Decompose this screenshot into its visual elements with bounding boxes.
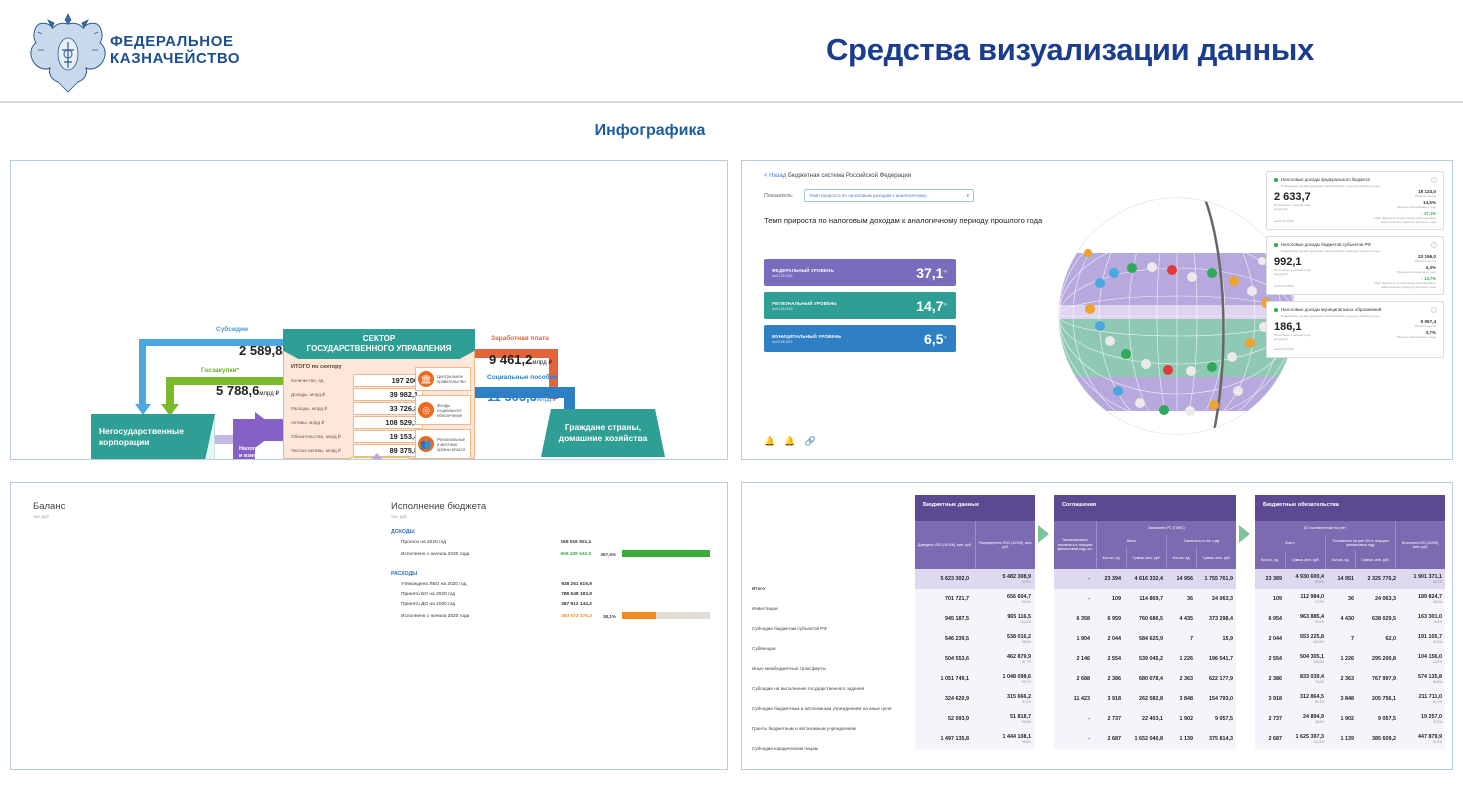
cell: 622 177,9 [1196,676,1236,682]
cell: 4 430 [1327,616,1357,622]
cell: 2 325 776,2 [1357,576,1399,582]
col-bo-year: Поставлено на учет БО в текущем финансов… [1325,535,1395,551]
cell: 196 541,7 [1196,656,1236,662]
cell: 9 057,5 [1196,716,1236,722]
balance-subtitle: тыс.руб [33,514,49,519]
cell: 965 116,5102,1% [973,614,1035,624]
level-regional-name: РЕГИОНАЛЬНЫЙ УРОВЕНЬ [772,301,837,306]
shield-icon: ◎ [418,402,434,418]
cell: - [1054,576,1094,582]
cell: 3 848 [1166,696,1196,702]
level-regional-date: на 04.03.2019 [772,307,837,311]
gov-row-count: Количество, ед.197 200 [291,374,423,387]
expense-section-header: РАСХОДЫ [391,571,417,577]
table-row[interactable]: - 2 737 22 403,1 1 902 9 057,5 [1054,709,1236,729]
cell: 2 554 [1094,656,1124,662]
table-row[interactable]: 2 044 553 225,8102,8% 7 62,0 191 105,733… [1255,629,1445,649]
level-federal-date: на 01.03.2019 [772,274,834,278]
cell: 1 139 [1327,736,1357,742]
link-icon[interactable]: 🔗 [804,436,815,447]
cell: 14 956 [1166,576,1196,582]
cell: 211 711,067,1% [1399,694,1445,704]
row-pct: 367,5% [594,547,619,561]
gov-sector-header: СЕКТОР ГОСУДАРСТВЕННОГО УПРАВЛЕНИЯ [283,329,475,359]
level-municipal-value: 6,5% [924,331,947,347]
table-row[interactable]: 945 187,5 965 116,5102,1% [915,609,1035,629]
table-row[interactable]: - 2 687 1 652 040,8 1 139 375 814,3 [1054,729,1236,749]
cell: 1 652 040,8 [1124,736,1166,742]
cell: 154 793,0 [1196,696,1236,702]
flow-subsidies-vertical [139,339,146,407]
level-federal-name: ФЕДЕРАЛЬНЫЙ УРОВЕНЬ [772,268,834,273]
table-row[interactable]: 2 688 2 386 680 078,4 2 363 622 177,9 [1054,669,1236,689]
group-budget-obligations-title: Бюджетные обязательства [1255,495,1445,521]
row-label: Инвестиции [752,599,892,619]
table-total-row[interactable]: - 23 394 4 616 332,4 14 956 1 755 761,9 [1054,569,1236,589]
org-central-government-label: Центральноеправительство [437,374,466,384]
org-name: ФЕДЕРАЛЬНОЕ КАЗНАЧЕЙСТВО [110,33,240,67]
row-label: Принято БО на 2020 год [393,589,531,599]
balance-title: Баланс [33,501,65,512]
row-label: Иные межбюджетные трансферты [752,659,892,679]
table-row[interactable]: 2 554 504 305,1100,0% 1 226 295 200,8 10… [1255,649,1445,669]
level-federal-value: 37,1% [916,265,947,281]
card-title: Налоговые доходы бюджетов субъектов РФ [1274,242,1436,247]
cell: 1 226 [1166,656,1196,662]
indicator-select-value: Темп прироста по налоговым доходам к ана… [809,193,929,198]
indicator-card[interactable]: i Налоговые доходы федерального бюджета … [1266,171,1444,230]
infographic-flow-panel[interactable]: Субсидии 2 589,8млрд ₽ Госзакупки* 5 788… [10,160,728,460]
level-municipal-name: МУНИЦИПАЛЬНЫЙ УРОВЕНЬ [772,334,841,339]
card-pct-caption: Процент исполнения к году [1364,270,1436,274]
row-value: 387 912 144,2 [531,599,595,609]
level-regional[interactable]: РЕГИОНАЛЬНЫЙ УРОВЕНЬ на 04.03.2019 14,7% [764,292,956,319]
cell: 6 954 [1255,616,1285,622]
table-row[interactable]: 324 620,9 315 666,297,2% [915,689,1035,709]
row-label: Субсидии бюджетам субъектов РФ [752,619,892,639]
cell: 945 187,5 [915,616,973,622]
row-label: Субсидии на выполнение государственного … [752,679,892,699]
row-label: Субсидии юридическим лицам [752,739,892,759]
globe-visualization[interactable] [1052,191,1302,441]
org-regional-authorities-label: Региональныеи местныеорганы власти [437,437,465,452]
cell: 385 609,2 [1357,736,1399,742]
card-subtitle: Повышение уровня доходов к аналогичному … [1281,184,1436,188]
cell: 23 389 [1255,576,1285,582]
cell: 205 756,1 [1357,696,1399,702]
cell: 1 139 [1166,736,1196,742]
cell: 51 818,799,5% [973,714,1035,724]
table-row[interactable]: Принято БО на 2020 год 788 648 183,9 [393,589,713,599]
cell: - [1054,596,1094,602]
table-row[interactable]: 6 954 963 885,499,9% 4 430 638 029,5 163… [1255,609,1445,629]
cell: 963 885,499,9% [1285,614,1327,624]
cell: 262 582,8 [1124,696,1166,702]
globe-dashboard-panel[interactable]: < Назад Бюджетная система Российской Фед… [741,160,1453,460]
cell: 1 902 [1327,716,1357,722]
government-icon: 🏛 [418,371,434,387]
row-pct: 38,1% [595,610,619,624]
cell: 2 044 [1094,636,1124,642]
col-count: Кол-во, ед. [1255,551,1285,569]
indicator-question: Темп прироста по налоговым доходам к ана… [764,215,1064,226]
card-date: на 05.03.2019 [1274,347,1436,351]
row-label: Итого [752,579,892,599]
cell: 375 814,3 [1196,736,1236,742]
cell: 2 044 [1255,636,1285,642]
gov-total-label: ИТОГО по сектору [291,364,342,370]
chevron-down-icon: ▾ [967,193,969,199]
col-count: Кол-во, ед. [1166,547,1196,569]
cell: 2 363 [1166,676,1196,682]
cell: 312 864,599,7% [1285,694,1327,704]
cell: 6 959 [1094,616,1124,622]
bell-icon[interactable]: 🔔 [764,436,775,447]
cell: 5 623 302,0 [915,576,973,582]
gov-row-liabilities: Обязательства, млрд ₽19 153,4 [291,430,423,443]
cell: 538 016,298,5% [973,634,1035,644]
nongov-title-line1: Негосударственные [99,426,184,437]
cell: 760 686,5 [1124,616,1166,622]
cell: 4 435 [1166,616,1196,622]
cell: 539 045,2 [1124,656,1166,662]
flow-invest-arrowhead [368,453,386,460]
globe-toolbar[interactable]: 🔔 🔔 🔗 [764,436,816,447]
row-bar [622,612,710,619]
table-row[interactable]: 6 358 6 959 760 686,5 4 435 373 298,4 [1054,609,1236,629]
cell: 584 625,9 [1124,636,1166,642]
gov-row-income: Доходы, млрд ₽39 982,1 [291,388,423,401]
cell: 24 063,3 [1196,596,1236,602]
cell: 2 386 [1094,676,1124,682]
label-subsidies: Субсидии [216,326,248,333]
table-total-row[interactable]: 5 623 302,0 5 482 308,997,5% [915,569,1035,589]
section-title: Инфографика [480,122,820,140]
cell: 2 554 [1255,656,1285,662]
row-label: Гранты бюджетным и автономным учреждения… [752,719,892,739]
value-procurement: 5 788,6млрд ₽ [216,383,279,398]
level-municipal[interactable]: МУНИЦИПАЛЬНЫЙ УРОВЕНЬ на 05.03.2019 6,5% [764,325,956,352]
row-value: 169 016 921,1 [531,537,595,547]
cell: - [1054,716,1094,722]
people-icon: 👥 [418,436,434,452]
citizens-box[interactable]: Граждане страны, домашние хозяйства [541,409,665,457]
cell: 2 688 [1054,676,1094,682]
cell: 504 553,6 [915,656,973,662]
citizens-line1: Граждане страны, [565,422,641,433]
back-link[interactable]: < Назад [764,173,786,179]
col-sum: Сумма, млн. руб. [1285,551,1325,569]
table-row[interactable]: 701 721,7 656 604,793,6% [915,589,1035,609]
card-pct-caption: Процент исполнения к году [1364,205,1436,209]
flow-arrow-icon [1239,525,1250,543]
cell: 1 755 761,9 [1196,576,1236,582]
cell: 504 305,1100,0% [1285,654,1327,664]
cell: 1 444 108,196,5% [973,734,1035,744]
cell: 23 394 [1094,576,1124,582]
card-subtitle: Повышение уровня доходов к аналогичному … [1281,249,1436,253]
col-planned-count: Запланировано заключить в текущем финанс… [1054,521,1096,569]
cell: 373 298,4 [1196,616,1236,622]
row-value: 606 439 542,0 [531,547,595,561]
cell: 5 482 308,997,5% [973,574,1035,584]
header-divider [0,101,1463,103]
indicator-card[interactable]: i Налоговые доходы бюджетов субъектов РФ… [1266,236,1444,295]
cell: 191 105,733,5% [1399,634,1445,644]
cell: 2 737 [1255,716,1285,722]
flow-procurement-vertical [166,377,174,407]
org-name-line2: КАЗНАЧЕЙСТВО [110,50,240,67]
flow-taxes-stub [215,435,233,444]
page-title: Средства визуализации данных [700,32,1440,68]
org-name-line1: ФЕДЕРАЛЬНОЕ [110,33,240,50]
cell: 112 984,017,2% [1285,594,1327,604]
cell: 1 904 [1054,636,1094,642]
table-row[interactable]: 2 386 833 039,479,0% 2 363 767 997,9 574… [1255,669,1445,689]
row-value: 928 251 615,9 [531,579,595,589]
status-dot-icon [1274,308,1278,312]
group-agreements: Соглашения Заключено РС (ГИИС) Всего Зак… [1054,495,1236,749]
org-central-government[interactable]: 🏛 Центральноеправительство [415,367,471,391]
card-title: Налоговые доходы муниципальных образован… [1274,307,1436,312]
cell: 163 301,016,9% [1399,614,1445,624]
alert-icon[interactable]: 🔔 [784,436,795,447]
indicator-card[interactable]: i Налоговые доходы муниципальных образов… [1266,301,1444,358]
nongov-title-line2: корпорации [99,437,184,448]
table-row[interactable]: 11 423 3 918 262 582,8 3 848 154 793,0 [1054,689,1236,709]
cell: 109 [1094,596,1124,602]
cell: 638 029,5 [1357,616,1399,622]
table-row[interactable]: Исполнено с начала 2020 года 606 439 542… [393,547,713,561]
group-agreements-title: Соглашения [1054,495,1236,521]
card-subtitle: Повышение уровня доходов к аналогичному … [1281,314,1436,318]
cell: 767 997,9 [1357,676,1399,682]
cell: 1 901 371,134,7% [1399,574,1445,584]
sector-flow-diagram: Субсидии 2 589,8млрд ₽ Госзакупки* 5 788… [11,161,727,459]
cell: 22 403,1 [1124,716,1166,722]
cell: 114 869,7 [1124,596,1166,602]
card-forecast-caption: Прогноз на год [1397,324,1436,328]
cell: 701 721,7 [915,596,973,602]
gov-row-assets: Активы, млрд ₽108 529,1 [291,416,423,429]
cell: 3 918 [1255,696,1285,702]
cell: 1 051 749,1 [915,676,973,682]
label-procurement: Госзакупки* [201,367,239,374]
group-budget-data: Бюджетные данные Доведено ЛБО (АСФК), мл… [915,495,1035,749]
cell: 24 894,948,9% [1285,714,1327,724]
level-municipal-date: на 05.03.2019 [772,340,841,344]
cell: 1 902 [1166,716,1196,722]
cell: 6 358 [1054,616,1094,622]
info-icon[interactable]: i [1431,307,1437,313]
cell: 4 930 600,489,9% [1285,574,1327,584]
cell: 14 951 [1327,576,1357,582]
cell: 62,0 [1357,636,1399,642]
label-taxes: Налогии взносы [239,446,264,460]
cell: 109 [1255,596,1285,602]
gov-row-expense: Расходы, млрд ₽33 726,8 [291,402,423,415]
indicator-select[interactable]: Темп прироста по налоговым доходам к ана… [804,189,974,202]
table-total-row[interactable]: 23 389 4 930 600,489,9% 14 951 2 325 776… [1255,569,1445,589]
col-agreements-year: Заключено в тек. году [1166,535,1236,547]
table-row[interactable]: 1 904 2 044 584 625,9 7 15,9 [1054,629,1236,649]
level-regional-value: 14,7% [916,298,947,314]
col-lbo-distributed: Распределено ЛБО (АСФК), млн. руб. [975,521,1035,569]
group-budget-data-title: Бюджетные данные [915,495,1035,521]
cell: 3 918 [1094,696,1124,702]
card-title: Налоговые доходы федерального бюджета [1274,177,1436,182]
cell: 15,9 [1196,636,1236,642]
cell: 9 057,5 [1357,716,1399,722]
cell: 833 039,479,0% [1285,674,1327,684]
cell: 546 239,5 [915,636,973,642]
table-row[interactable]: 2 146 2 554 539 045,2 1 226 196 541,7 [1054,649,1236,669]
card-forecast-caption: Прогноз на год [1364,259,1436,263]
col-bo-executed: Исполнено БО (АСФК), млн. руб. [1395,521,1445,569]
org-regional-authorities[interactable]: 👥 Региональныеи местныеорганы власти [415,429,471,459]
cell: - [1054,736,1094,742]
table-row[interactable]: 546 239,5 538 016,298,5% [915,629,1035,649]
balance-budget-panel[interactable]: Баланс тыс.руб Нефинансовые активы 1 132… [10,482,728,770]
cell: 52 093,9 [915,716,973,722]
cell: 2 146 [1054,656,1094,662]
row-value: 788 648 183,9 [531,589,595,599]
cell: 2 363 [1327,676,1357,682]
row-bar [622,550,710,557]
cell: 189 824,728,9% [1399,594,1445,604]
col-bo-registered: БО поставленные на учет [1255,521,1395,535]
cell: 36 [1166,596,1196,602]
federal-treasury-emblem-logo [22,6,114,98]
income-table[interactable]: Прогноз на 2020 год 169 016 921,1 Исполн… [393,537,713,561]
gov-head-line2: ГОСУДАРСТВЕННОГО УПРАВЛЕНИЯ [307,344,452,354]
cell: 19 257,037,2% [1399,714,1445,724]
cell: 656 604,793,6% [973,594,1035,604]
table-row[interactable]: 1 497 135,8 1 444 108,196,5% [915,729,1035,749]
cell: 104 156,022,5% [1399,654,1445,664]
value-benefits: 11 503,3млрд ₽ [487,389,557,404]
row-label: Субсидии бюджетным и автономным учрежден… [752,699,892,719]
status-dot-icon [1274,243,1278,247]
row-label: Утверждено ЛБО на 2020 год [393,579,531,589]
cell: 7 [1166,636,1196,642]
status-dot-icon [1274,178,1278,182]
citizens-line2: домашние хозяйства [559,433,648,444]
col-agreements-top: Заключено РС (ГИИС) [1096,521,1236,535]
cell: 1 048 098,699,7% [973,674,1035,684]
col-lbo-allocated: Доведено ЛБО (АСФК), млн. руб. [915,521,975,569]
table-row[interactable]: 2 737 24 894,948,9% 1 902 9 057,5 19 257… [1255,709,1445,729]
col-agreements-all: Всего [1096,535,1166,547]
budget-obligations-table-panel[interactable]: Итого Инвестиции Субсидии бюджетам субъе… [741,482,1453,770]
card-forecast-caption: Прогноз на год [1364,194,1436,198]
table-row[interactable]: - 109 114 869,7 36 24 063,3 [1054,589,1236,609]
breadcrumb[interactable]: < Назад Бюджетная система Российской Фед… [764,173,911,179]
table-row[interactable]: Утверждено ЛБО на 2020 год 928 251 615,9 [393,579,713,589]
row-label: Принято ДО на 2020 год [393,599,531,609]
cell: 36 [1327,596,1357,602]
table-row[interactable]: Прогноз на 2020 год 169 016 921,1 [393,537,713,547]
table-row[interactable]: 2 687 1 625 397,3112,5% 1 139 385 609,2 … [1255,729,1445,749]
card-pct-caption: Процент исполнения к году [1397,335,1436,339]
indicator-select-label: Показатель: [764,193,793,199]
row-label: Прогноз на 2020 год [393,537,531,547]
table-row[interactable]: 109 112 984,017,2% 36 24 063,3 189 824,7… [1255,589,1445,609]
col-bo-all: Всего [1255,535,1325,551]
level-federal[interactable]: ФЕДЕРАЛЬНЫЙ УРОВЕНЬ на 01.03.2019 37,1% [764,259,956,286]
org-social-funds[interactable]: ◎ Фондысоциальногообеспечения [415,395,471,425]
col-sum: Сумма, млн. руб. [1196,547,1236,569]
income-section-header: ДОХОДЫ [391,529,415,535]
gov-row-net-assets: Чистые активы, млрд ₽89 375,8 [291,444,423,457]
table-row[interactable]: Исполнено с начала 2020 года 353 573 375… [393,610,713,624]
info-icon[interactable]: i [1431,242,1437,248]
cell: 7 [1327,636,1357,642]
cell: 2 687 [1094,736,1124,742]
table-row[interactable]: 52 093,9 51 818,799,5% [915,709,1035,729]
card-growth-caption: Темп прироста по кассовому исполнению к … [1364,216,1436,224]
flow-arrow-icon [1038,525,1049,543]
info-icon[interactable]: i [1431,177,1437,183]
cell: 24 063,3 [1357,596,1399,602]
table-row[interactable]: Принято ДО на 2020 год 387 912 144,2 [393,599,713,609]
table-row[interactable]: 1 051 749,1 1 048 098,699,7% [915,669,1035,689]
table-row[interactable]: 3 918 312 864,599,7% 3 848 205 756,1 211… [1255,689,1445,709]
cell: 2 687 [1255,736,1285,742]
cell: 462 879,991,7% [973,654,1035,664]
cell: 447 879,931,0% [1399,734,1445,744]
table-row-labels: Итого Инвестиции Субсидии бюджетам субъе… [752,579,892,759]
breadcrumb-current: Бюджетная система Российской Федерации [788,173,911,179]
gov-head-line1: СЕКТОР [363,334,395,344]
row-value: 353 573 375,3 [531,610,595,624]
col-sum: Сумма, млн. руб. [1126,547,1166,569]
cell: 574 135,854,8% [1399,674,1445,684]
cell: 2 386 [1255,676,1285,682]
col-count: Кол-во, ед. [1096,547,1126,569]
card-growth-caption: Темп прироста по кассовому исполнению к … [1364,281,1436,289]
cell: 295 200,8 [1357,656,1399,662]
budget-subtitle: тыс.руб [391,514,407,519]
group-budget-obligations: Бюджетные обязательства БО поставленные … [1255,495,1445,749]
indicator-card-list: i Налоговые доходы федерального бюджета … [1266,171,1444,364]
table-row[interactable]: 504 553,6 462 879,991,7% [915,649,1035,669]
cell: 680 078,4 [1124,676,1166,682]
cell: 553 225,8102,8% [1285,634,1327,644]
row-label: Субвенции [752,639,892,659]
label-benefits: Социальные пособия [487,374,558,381]
cell: 315 666,297,2% [973,694,1035,704]
cell: 1 625 397,3112,5% [1285,734,1327,744]
cell: 11 423 [1054,696,1094,702]
label-salary: Заработная плата [491,335,549,342]
page-header: ФЕДЕРАЛЬНОЕ КАЗНАЧЕЙСТВО Средства визуал… [0,0,1463,101]
cell: 1 497 135,8 [915,736,973,742]
cell: 324 620,9 [915,696,973,702]
nongov-corporations-box[interactable]: Негосударственные корпорации [91,414,215,460]
expense-table[interactable]: Утверждено ЛБО на 2020 год 928 251 615,9… [393,579,713,624]
org-social-funds-label: Фондысоциальногообеспечения [437,403,462,418]
value-salary: 9 461,2млрд ₽ [489,352,552,367]
flow-taxes-arrowhead [255,412,279,448]
cell: 3 848 [1327,696,1357,702]
cell: 4 616 332,4 [1124,576,1166,582]
col-sum: Сумма, млн. руб. [1355,551,1395,569]
col-count: Кол-во, ед. [1325,551,1355,569]
cell: 2 737 [1094,716,1124,722]
row-label: Исполнено с начала 2020 года [393,610,531,624]
row-label: Исполнено с начала 2020 года [393,547,531,561]
